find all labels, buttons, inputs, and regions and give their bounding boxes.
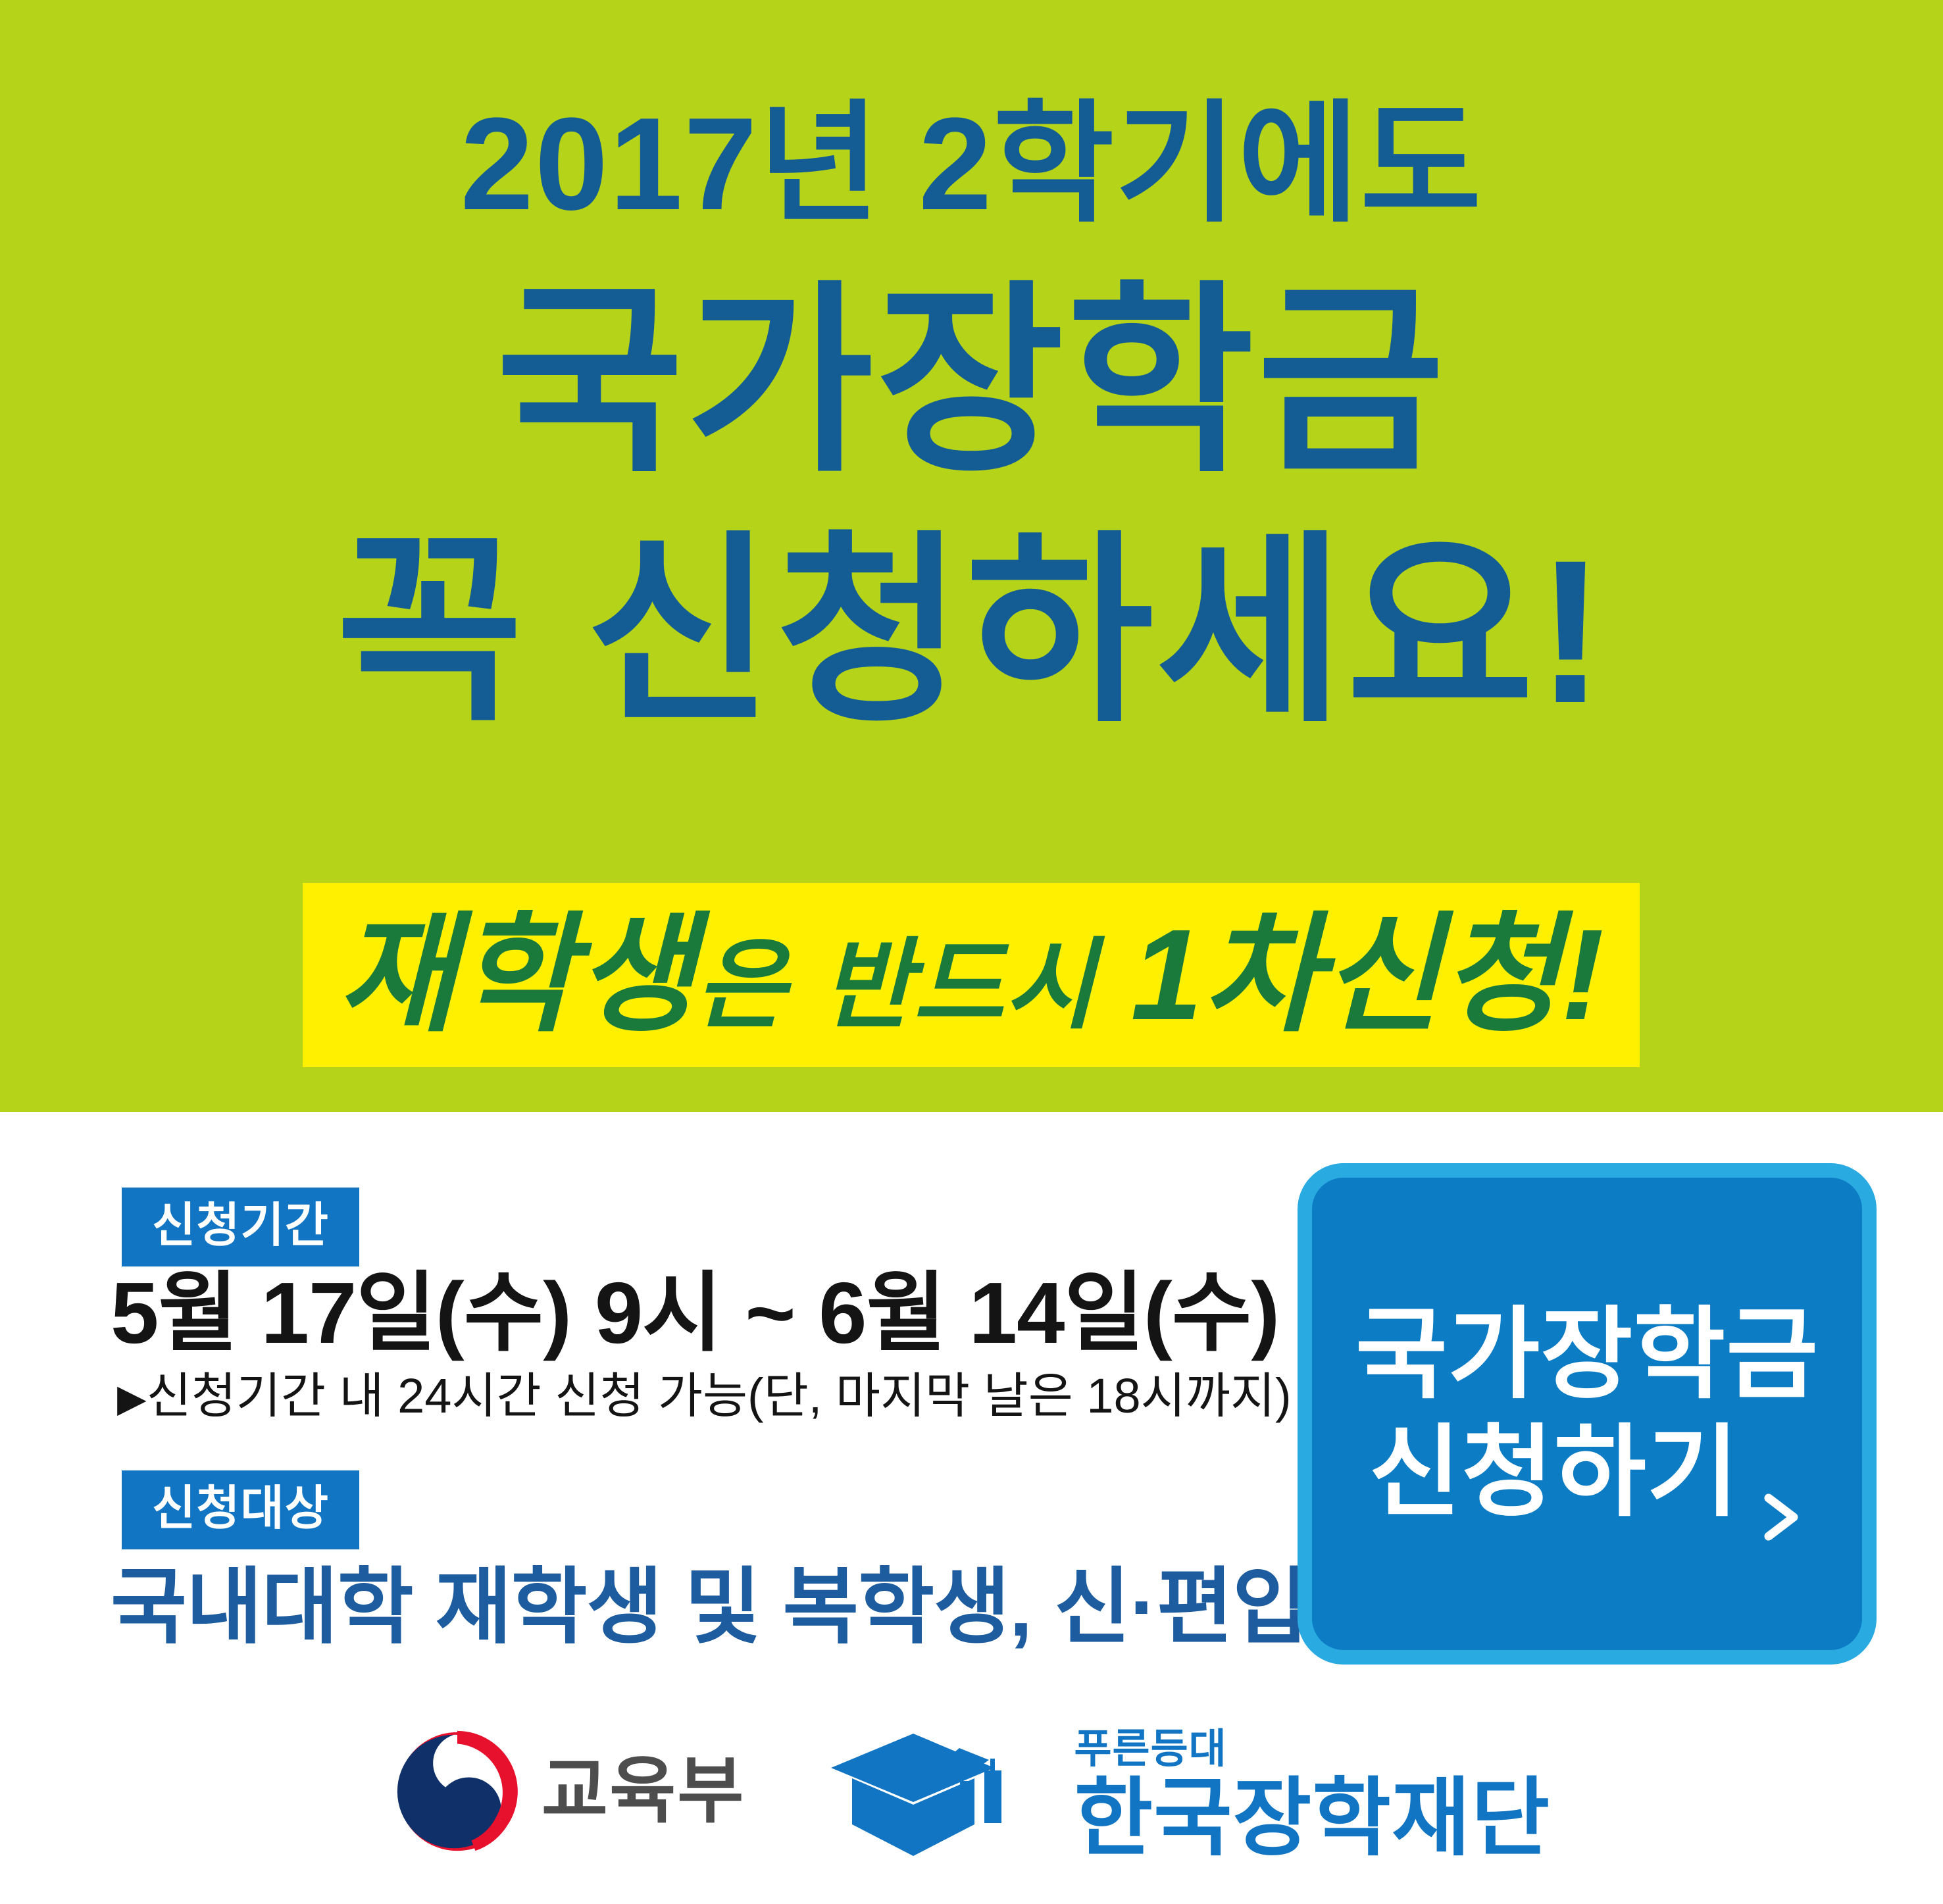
moe-label: 교육부	[542, 1755, 745, 1828]
badge-application-target: 신청대상	[122, 1470, 359, 1549]
highlight-part-2: 은	[695, 930, 787, 1040]
cta-label-line2: 신청하기	[1369, 1414, 1739, 1532]
highlight-part-4: 1차신청!	[1131, 903, 1605, 1047]
kosaf-main-label: 한국장학재단	[1074, 1775, 1551, 1861]
cta-line-2: 신청하기	[1369, 1414, 1805, 1532]
scholarship-banner: 2017년 2학기에도 국가장학금 꼭 신청하세요! 재학생은 반드시 1차신청…	[0, 0, 1943, 1904]
application-target-value: 국내대학 재학생 및 복학생, 신·편입학생	[111, 1566, 1459, 1649]
apply-scholarship-button[interactable]: 국가장학금 신청하기	[1298, 1163, 1877, 1665]
triangle-right-icon: ▶	[117, 1377, 147, 1420]
application-period-note: ▶신청기간 내 24시간 신청 가능(단, 마지막 날은 18시까지)	[117, 1372, 1292, 1420]
badge-application-period: 신청기간	[122, 1188, 359, 1266]
kosaf-sub-label: 푸른등대	[1074, 1729, 1551, 1770]
highlight-band: 재학생은 반드시 1차신청!	[303, 883, 1640, 1067]
korea-government-emblem-icon	[393, 1727, 522, 1856]
chevron-right-icon	[1757, 1449, 1805, 1497]
graduation-cap-icon	[824, 1727, 1055, 1862]
cta-line-1: 국가장학금	[1355, 1296, 1819, 1414]
hero-headline-line1: 국가장학금	[0, 280, 1943, 484]
hero-headline-line2: 꼭 신청하세요!	[0, 530, 1943, 734]
kosaf-wordmark: 푸른등대 한국장학재단	[1074, 1729, 1551, 1861]
hero-kicker: 2017년 2학기에도	[0, 99, 1943, 230]
cta-label-line1: 국가장학금	[1355, 1296, 1819, 1414]
highlight-part-1: 재학생	[338, 903, 695, 1047]
footer-logos: 교육부 푸른등대 한국장학	[0, 1727, 1943, 1904]
application-period-value: 5월 17일(수) 9시 ~ 6월 14일(수) 18시	[111, 1270, 1477, 1357]
highlight-part-3: 반드시	[822, 930, 1096, 1040]
kosaf-logo: 푸른등대 한국장학재단	[824, 1727, 1551, 1862]
moe-logo: 교육부	[393, 1727, 745, 1856]
application-period-note-text: 신청기간 내 24시간 신청 가능(단, 마지막 날은 18시까지)	[147, 1368, 1292, 1423]
highlight-text: 재학생은 반드시 1차신청!	[338, 911, 1605, 1040]
